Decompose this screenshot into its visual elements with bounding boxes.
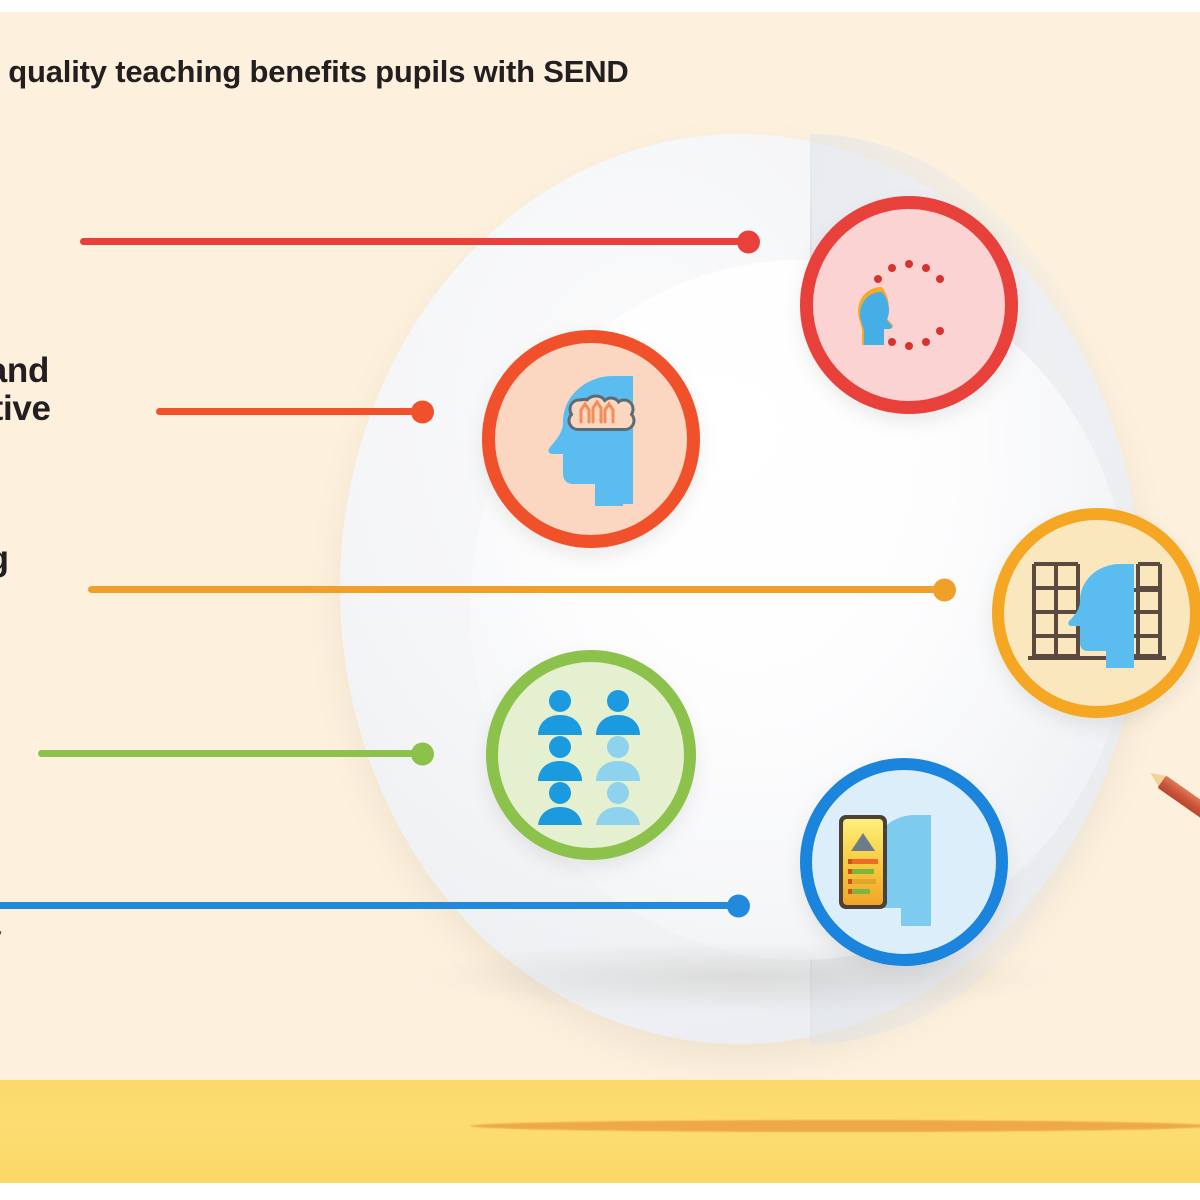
bubble-scaffolding[interactable] [992,508,1200,718]
head-brain-icon [521,364,661,514]
bubble-cognitive-metacognitive[interactable] [482,330,700,548]
connector-dot-explicit-instruction [737,230,760,253]
label-cognitive-metacognitive: ve and gnitive es [0,352,51,465]
poster-canvas: igh quality teaching benefits pupils wit… [0,12,1200,1080]
bubble-flexible-grouping[interactable] [486,650,696,860]
central-sphere-shadow [420,942,1060,1012]
bottom-white-strip [0,1183,1200,1200]
connector-using-technology [0,902,740,909]
head-scaffold-icon [1022,548,1172,678]
six-people-grid-icon [526,685,656,825]
screenshot-root: igh quality teaching benefits pupils wit… [0,0,1200,1200]
top-white-strip [0,0,1200,12]
bubble-using-technology[interactable] [800,758,1008,966]
label-scaffolding: ding [0,540,9,578]
connector-cognitive-metacognitive [156,408,424,415]
band-streak-secondary-decoration [470,1120,1200,1132]
label-using-technology: ogy [0,920,1,958]
pencil-icon [1144,766,1200,851]
page-title: igh quality teaching benefits pupils wit… [0,54,854,90]
bottom-yellow-band [0,1080,1200,1183]
bubble-explicit-instruction[interactable] [800,196,1018,414]
two-heads-dotted-circle-icon [834,230,984,380]
connector-dot-using-technology [727,894,750,917]
connector-scaffolding [88,586,946,593]
pencil-body-icon [1157,775,1200,848]
connector-dot-scaffolding [933,578,956,601]
connector-dot-flexible-grouping [411,742,434,765]
phone-head-icon [829,797,979,927]
connector-dot-cognitive-metacognitive [411,400,434,423]
connector-explicit-instruction [80,238,750,245]
connector-flexible-grouping [38,750,424,757]
